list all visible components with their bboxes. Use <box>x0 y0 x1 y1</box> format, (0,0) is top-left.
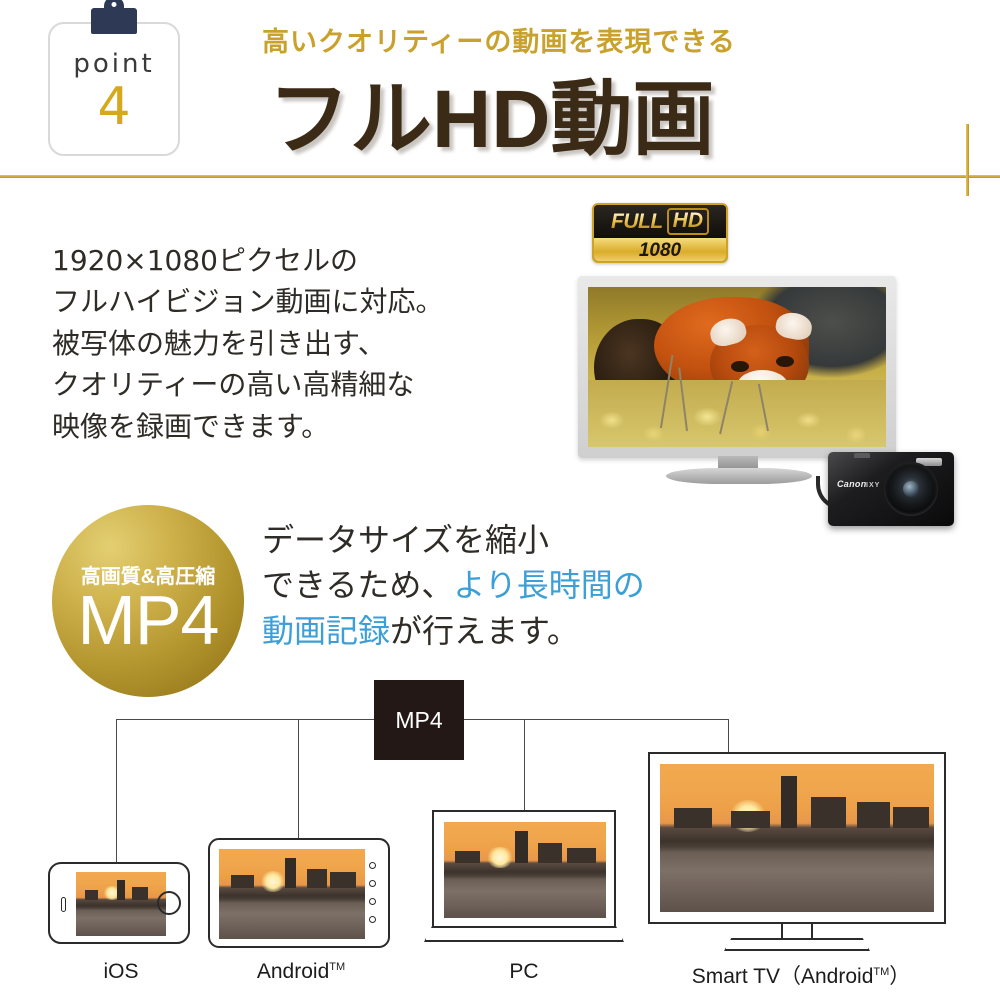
smart-tv-screen-sunset-image <box>660 764 934 912</box>
camera-lens <box>884 462 938 516</box>
description-line: 被写体の魅力を引き出す、 <box>52 323 443 364</box>
mp4-description-line-1: データサイズを縮小 <box>262 518 645 563</box>
page-title: フルHD動画 <box>268 52 714 171</box>
skyline-building <box>567 848 596 863</box>
mp4-description-line-3: 動画記録が行えます。 <box>262 609 645 654</box>
skyline-building <box>538 843 562 863</box>
laptop-lid <box>432 810 616 928</box>
skyline-building <box>307 869 327 888</box>
sun <box>260 871 286 893</box>
description-line: 1920×1080ピクセルの <box>52 240 443 281</box>
horizontal-divider <box>0 175 1000 178</box>
mp4-format-box: MP4 <box>374 680 464 760</box>
connector-line-android <box>298 719 299 838</box>
phone-screen-sunset-image <box>76 872 166 936</box>
mp4-line1-plain: データサイズを縮小 <box>262 521 549 559</box>
connector-line-horizontal-right <box>464 719 729 720</box>
point-number: 4 <box>97 81 130 133</box>
mp4-line3-plain: が行えます。 <box>390 612 579 650</box>
television <box>578 276 896 458</box>
connector-line-smarttv <box>728 719 729 752</box>
skyline-tower <box>515 831 528 864</box>
mp4-line3-highlight: 動画記録 <box>262 612 390 650</box>
pc-laptop-device <box>424 810 624 950</box>
device-label-smart-tv: Smart TV（AndroidTM） <box>676 960 926 990</box>
skyline-building <box>857 802 890 827</box>
skyline-tower <box>781 776 797 828</box>
laptop-base <box>424 926 624 942</box>
android-tablet-device <box>208 838 390 948</box>
sun <box>486 847 514 868</box>
tv-camera-photo: Canon IXY <box>578 276 918 496</box>
mp4-line2-plain: できるため、 <box>262 566 453 604</box>
description-line: フルハイビジョン動画に対応。 <box>52 281 443 322</box>
smart-tv-stand-base <box>724 938 870 951</box>
skyline-building <box>85 890 98 900</box>
skyline-building <box>132 887 148 899</box>
skyline-building <box>455 851 479 863</box>
skyline-building <box>731 811 769 827</box>
skyline-building <box>231 875 254 888</box>
full-hd-resolution-text: 1080 <box>639 240 681 262</box>
tablet-control-dot <box>369 916 376 923</box>
full-hd-full-text: FULL <box>611 210 663 234</box>
tablet-control-dot <box>369 862 376 869</box>
point-badge: point 4 <box>48 22 180 156</box>
description-text: 1920×1080ピクセルの フルハイビジョン動画に対応。 被写体の魅力を引き出… <box>52 240 443 447</box>
panda-eye-left <box>731 361 749 372</box>
camera-model-label: IXY <box>866 482 880 489</box>
tablet-control-dot <box>369 880 376 887</box>
trademark-symbol: TM <box>873 966 889 978</box>
panda-eye-right <box>776 356 794 367</box>
device-label-smart-tv-text: Smart TV（Android <box>692 965 874 988</box>
trademark-symbol: TM <box>329 961 345 973</box>
connector-line-horizontal-left <box>116 719 374 720</box>
full-hd-badge-bottom: 1080 <box>594 238 726 263</box>
compact-camera: Canon IXY <box>828 452 954 526</box>
tv-screen-red-panda-image <box>588 287 886 447</box>
smart-tv-stand-neck <box>781 922 813 940</box>
vertical-divider <box>966 124 969 196</box>
mp4-gold-badge: 高画質&高圧縮 MP4 <box>52 505 244 697</box>
mp4-format-box-label: MP4 <box>395 707 442 734</box>
mp4-badge-label: MP4 <box>78 587 219 654</box>
skyline-building <box>330 872 356 887</box>
mp4-description-text: データサイズを縮小 できるため、より長時間の 動画記録が行えます。 <box>262 518 645 654</box>
camera-shutter-button <box>854 453 870 458</box>
tv-stand-base <box>666 468 812 484</box>
skyline-building <box>893 807 929 828</box>
skyline-tower <box>285 858 297 888</box>
full-hd-hd-text: HD <box>667 208 709 234</box>
description-line: 映像を録画できます。 <box>52 406 443 447</box>
autumn-leaves-ground <box>588 380 886 447</box>
full-hd-badge-top: FULL HD <box>594 205 726 238</box>
device-label-pc: PC <box>468 960 580 984</box>
marketing-slide: point 4 高いクオリティーの動画を表現できる フルHD動画 1920×10… <box>0 0 1000 1000</box>
tablet-screen-sunset-image <box>219 849 365 939</box>
description-line: クオリティーの高い高精細な <box>52 364 443 405</box>
smart-tv-body <box>648 752 946 924</box>
device-label-ios-text: iOS <box>103 960 138 983</box>
ios-phone-device <box>48 862 190 944</box>
full-hd-badge: FULL HD 1080 <box>592 203 728 263</box>
camera-brand-label: Canon <box>837 479 867 489</box>
device-label-ios: iOS <box>66 960 176 984</box>
device-label-android-text: Android <box>257 960 329 983</box>
tablet-control-dot <box>369 898 376 905</box>
connector-line-ios <box>116 719 117 862</box>
device-label-android: AndroidTM <box>236 960 366 984</box>
device-compatibility-diagram: MP4 <box>0 670 1000 1000</box>
device-label-pc-text: PC <box>509 960 538 983</box>
clipboard-clip-icon <box>91 8 137 34</box>
phone-home-button-icon <box>157 891 181 915</box>
device-label-smart-tv-suffix: ） <box>889 965 910 988</box>
skyline-building <box>674 808 712 827</box>
point-label: point <box>73 51 154 77</box>
mp4-description-line-2: できるため、より長時間の <box>262 563 645 608</box>
skyline-tower <box>117 880 125 900</box>
laptop-screen-sunset-image <box>444 822 606 918</box>
smart-tv-device <box>648 752 946 952</box>
mp4-line2-highlight: より長時間の <box>453 566 644 604</box>
skyline-building <box>811 797 847 828</box>
connector-line-pc <box>524 719 525 810</box>
phone-speaker-icon <box>61 897 66 912</box>
